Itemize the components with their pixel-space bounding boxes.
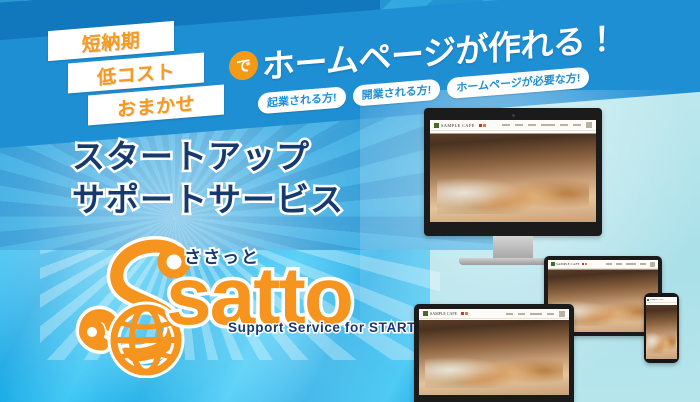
page-title-line-1: スタートアップ	[72, 136, 344, 179]
device-mockup-group: SAMPLE CAFE SAMPLE CAFE	[412, 108, 700, 402]
phone-bezel: SAMPLE CAFE	[644, 293, 679, 363]
laptop-screen: SAMPLE CAFE	[419, 309, 569, 395]
site-logo-icon	[647, 299, 649, 301]
site-logo-icon	[423, 311, 428, 316]
site-logo-icon	[551, 262, 555, 266]
site-nav	[606, 262, 655, 267]
feature-tag-full-service: おまかせ	[88, 85, 224, 126]
device-laptop: SAMPLE CAFE	[414, 304, 574, 402]
startup-support-service-banner: 短納期 低コスト おまかせ で ホームページが作れる！ 起業される方! 開業され…	[0, 0, 700, 402]
monitor-neck	[493, 236, 533, 258]
page-title: スタートアップ サポートサービス	[72, 136, 344, 222]
page-title-line-2: サポートサービス	[72, 179, 344, 222]
logo-tagline: Support Service for START-UP	[228, 320, 440, 335]
satto-logo: ささっと satto Support Service for START-UP	[62, 238, 442, 378]
site-name: SAMPLE CAFE	[650, 299, 664, 301]
webcam-icon	[512, 114, 515, 117]
laptop-bezel: SAMPLE CAFE	[414, 304, 574, 402]
site-name: SAMPLE CAFE	[441, 123, 475, 128]
site-flag-icon	[582, 263, 587, 265]
site-flag-icon	[461, 312, 468, 315]
feature-tag-label: おまかせ	[117, 88, 195, 121]
site-nav	[502, 122, 592, 128]
feature-tag-label: 低コスト	[97, 56, 175, 89]
monitor-bezel: SAMPLE CAFE	[424, 108, 602, 236]
device-desktop-monitor: SAMPLE CAFE	[424, 108, 602, 265]
feature-tag-label: 短納期	[82, 25, 141, 57]
device-smartphone: SAMPLE CAFE	[644, 293, 679, 363]
feature-tag-short-delivery: 短納期	[48, 21, 174, 61]
site-flag-icon	[479, 124, 486, 127]
site-nav	[506, 311, 565, 317]
site-name: SAMPLE CAFE	[430, 311, 457, 316]
monitor-screen: SAMPLE CAFE	[430, 120, 596, 222]
phone-screen: SAMPLE CAFE	[646, 297, 677, 359]
site-name: SAMPLE CAFE	[556, 262, 580, 266]
site-logo-icon	[434, 123, 439, 128]
